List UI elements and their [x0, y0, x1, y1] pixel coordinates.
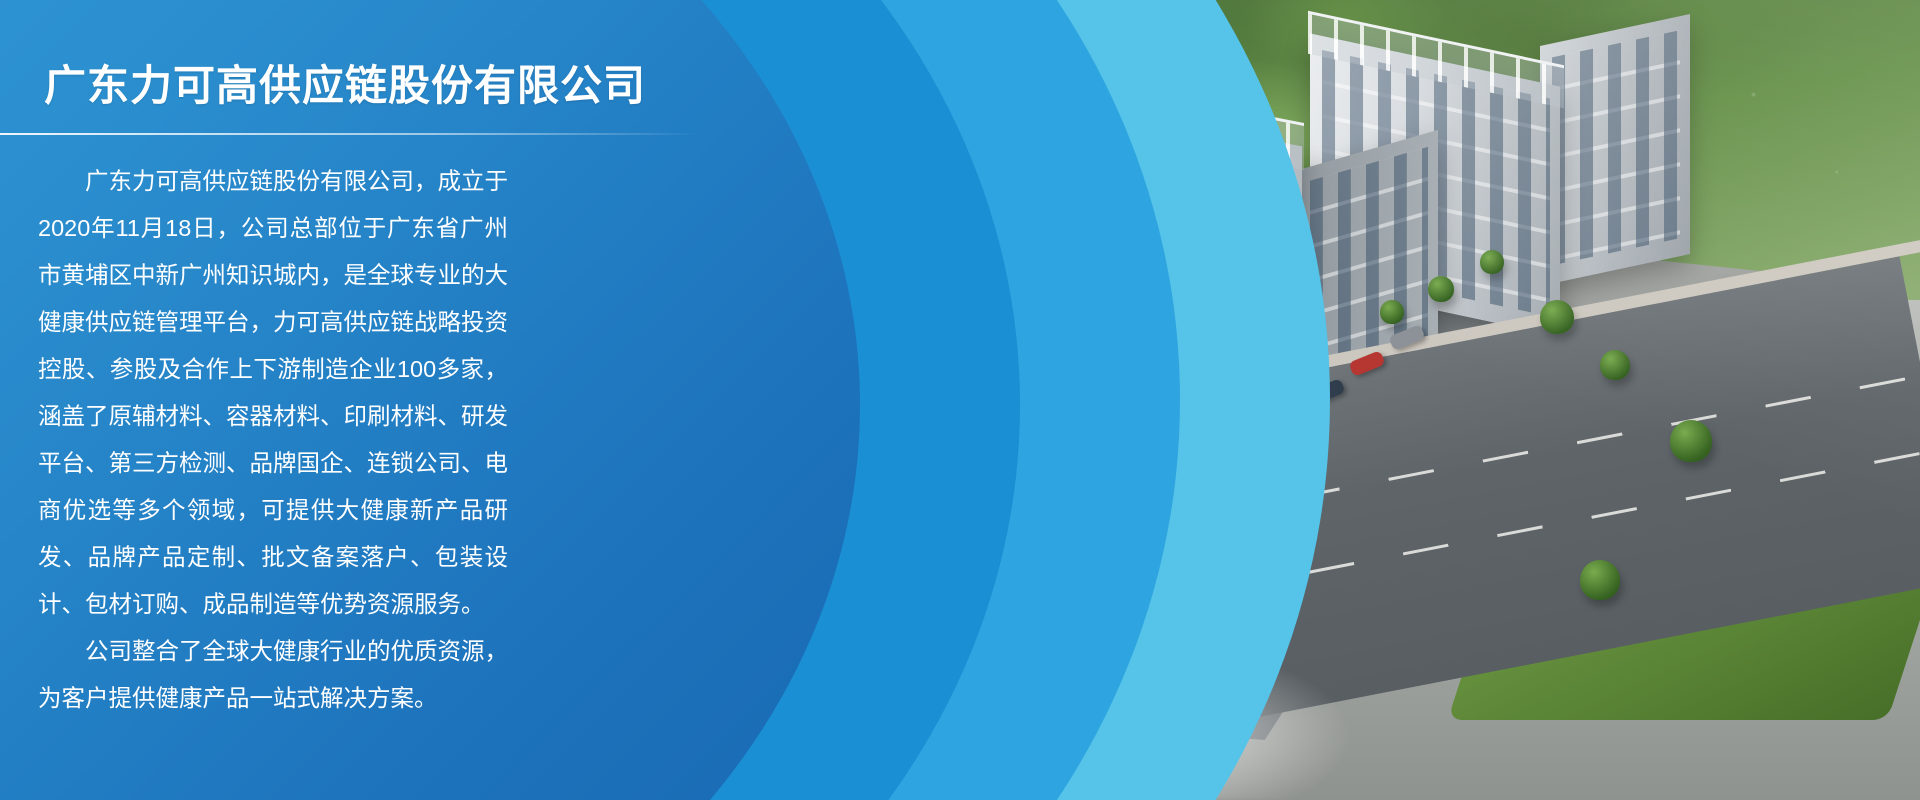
tree [988, 500, 1026, 538]
tree [1050, 468, 1080, 498]
title-divider [0, 133, 700, 135]
facility-aerial-photo [880, 0, 1920, 800]
window-grid [1552, 30, 1680, 265]
third-building [1540, 14, 1690, 286]
tree [940, 470, 970, 500]
paragraph-company-overview: 广东力可高供应链股份有限公司，成立于2020年11月18日，公司总部位于广东省广… [38, 158, 508, 628]
banner-stage: 广东力可高供应链股份有限公司 广东力可高供应链股份有限公司，成立于2020年11… [0, 0, 1920, 800]
tree [1580, 560, 1620, 600]
page-title: 广东力可高供应链股份有限公司 [44, 52, 646, 113]
tree [1428, 276, 1454, 302]
company-intro-panel: 广东力可高供应链股份有限公司 广东力可高供应链股份有限公司，成立于2020年11… [0, 0, 640, 800]
tree [1670, 420, 1712, 462]
tree [1112, 440, 1138, 466]
tree [1600, 350, 1630, 380]
road-haze [1000, 640, 1360, 800]
tree [1540, 300, 1574, 334]
tree [1480, 250, 1504, 274]
paragraph-company-solution: 公司整合了全球大健康行业的优质资源，为客户提供健康产品一站式解决方案。 [38, 628, 508, 722]
tree [1380, 300, 1404, 324]
tree [1220, 560, 1254, 594]
company-description: 广东力可高供应链股份有限公司，成立于2020年11月18日，公司总部位于广东省广… [38, 158, 508, 722]
tree [1180, 410, 1210, 440]
